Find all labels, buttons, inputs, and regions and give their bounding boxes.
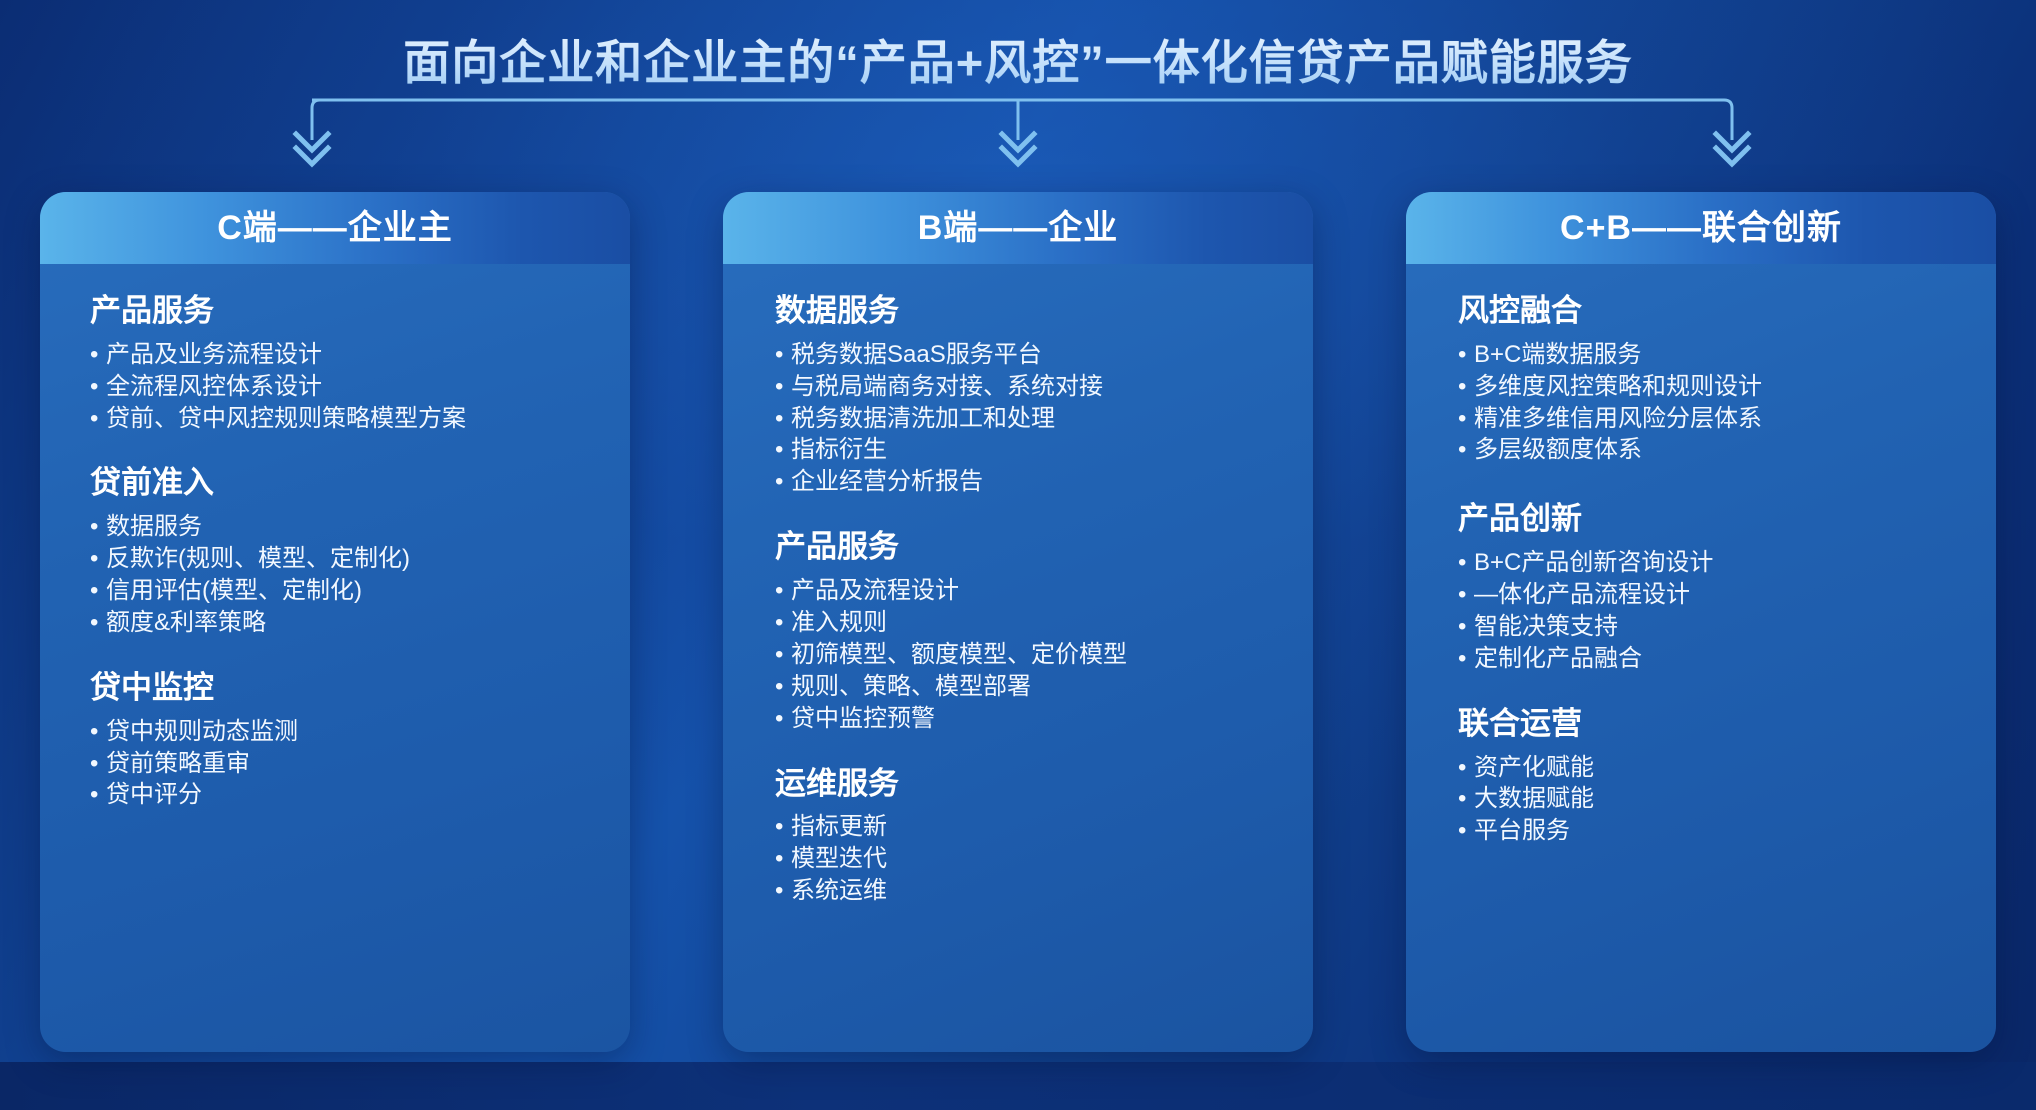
section-product-service: 产品服务 产品及业务流程设计 全流程风控体系设计 贷前、贷中风控规则策略模型方案	[90, 292, 596, 434]
list-item: 系统运维	[775, 875, 1279, 907]
list-item: 准入规则	[775, 607, 1279, 639]
list-item: 贷中评分	[90, 779, 596, 811]
list-item: 多层级额度体系	[1458, 434, 1962, 466]
list-item: 与税局端商务对接、系统对接	[775, 371, 1279, 403]
list-item: 全流程风控体系设计	[90, 371, 596, 403]
section-bullet-list: 贷中规则动态监测 贷前策略重审 贷中评分	[90, 716, 596, 812]
section-ops-service: 运维服务 指标更新 模型迭代 系统运维	[775, 765, 1279, 907]
slide-canvas: 面向企业和企业主的“产品+风控”一体化信贷产品赋能服务 C端——企业主 产品服务	[0, 0, 2036, 1110]
section-title: 产品创新	[1458, 500, 1962, 539]
column-header-c-plus-b: C+B——联合创新	[1406, 192, 1996, 264]
section-bullet-list: 产品及业务流程设计 全流程风控体系设计 贷前、贷中风控规则策略模型方案	[90, 339, 596, 435]
section-joint-operation: 联合运营 资产化赋能 大数据赋能 平台服务	[1458, 705, 1962, 847]
list-item: 贷中监控预警	[775, 703, 1279, 735]
chevron-down-icon-3	[1716, 134, 1748, 164]
section-title: 风控融合	[1458, 292, 1962, 331]
column-header-b-end: B端——企业	[723, 192, 1313, 264]
column-body-b-end: 数据服务 税务数据SaaS服务平台 与税局端商务对接、系统对接 税务数据清洗加工…	[723, 264, 1313, 907]
column-card-c-end[interactable]: C端——企业主 产品服务 产品及业务流程设计 全流程风控体系设计 贷前、贷中风控…	[40, 192, 630, 1052]
section-bullet-list: B+C端数据服务 多维度风控策略和规则设计 精准多维信用风险分层体系 多层级额度…	[1458, 339, 1962, 467]
section-product-innovation: 产品创新 B+C产品创新咨询设计 —体化产品流程设计 智能决策支持 定制化产品融…	[1458, 500, 1962, 674]
list-item: —体化产品流程设计	[1458, 579, 1962, 611]
bottom-strip	[0, 1062, 2036, 1110]
chevron-down-icon-2	[1002, 134, 1034, 164]
list-item: 精准多维信用风险分层体系	[1458, 403, 1962, 435]
list-item: 税务数据清洗加工和处理	[775, 403, 1279, 435]
column-header-c-end: C端——企业主	[40, 192, 630, 264]
section-title: 贷中监控	[90, 669, 596, 708]
list-item: 税务数据SaaS服务平台	[775, 339, 1279, 371]
list-item: 反欺诈(规则、模型、定制化)	[90, 543, 596, 575]
section-pre-loan-admission: 贷前准入 数据服务 反欺诈(规则、模型、定制化) 信用评估(模型、定制化) 额度…	[90, 464, 596, 638]
section-bullet-list: 产品及流程设计 准入规则 初筛模型、额度模型、定价模型 规则、策略、模型部署 贷…	[775, 575, 1279, 735]
list-item: 信用评估(模型、定制化)	[90, 575, 596, 607]
list-item: 贷中规则动态监测	[90, 716, 596, 748]
list-item: 定制化产品融合	[1458, 643, 1962, 675]
list-item: 初筛模型、额度模型、定价模型	[775, 639, 1279, 671]
list-item: 额度&利率策略	[90, 607, 596, 639]
section-product-service: 产品服务 产品及流程设计 准入规则 初筛模型、额度模型、定价模型 规则、策略、模…	[775, 528, 1279, 734]
section-data-service: 数据服务 税务数据SaaS服务平台 与税局端商务对接、系统对接 税务数据清洗加工…	[775, 292, 1279, 498]
list-item: 平台服务	[1458, 815, 1962, 847]
section-title: 运维服务	[775, 765, 1279, 804]
list-item: 智能决策支持	[1458, 611, 1962, 643]
section-title: 数据服务	[775, 292, 1279, 331]
section-bullet-list: 指标更新 模型迭代 系统运维	[775, 811, 1279, 907]
list-item: 规则、策略、模型部署	[775, 671, 1279, 703]
list-item: 指标衍生	[775, 434, 1279, 466]
list-item: B+C端数据服务	[1458, 339, 1962, 371]
list-item: 贷前策略重审	[90, 748, 596, 780]
section-title: 产品服务	[90, 292, 596, 331]
list-item: 产品及流程设计	[775, 575, 1279, 607]
section-title: 贷前准入	[90, 464, 596, 503]
column-card-b-end[interactable]: B端——企业 数据服务 税务数据SaaS服务平台 与税局端商务对接、系统对接 税…	[723, 192, 1313, 1052]
page-title: 面向企业和企业主的“产品+风控”一体化信贷产品赋能服务	[0, 24, 2036, 93]
section-bullet-list: 税务数据SaaS服务平台 与税局端商务对接、系统对接 税务数据清洗加工和处理 指…	[775, 339, 1279, 499]
list-item: 资产化赋能	[1458, 752, 1962, 784]
column-body-c-plus-b: 风控融合 B+C端数据服务 多维度风控策略和规则设计 精准多维信用风险分层体系 …	[1406, 264, 1996, 847]
list-item: 企业经营分析报告	[775, 466, 1279, 498]
section-bullet-list: 资产化赋能 大数据赋能 平台服务	[1458, 752, 1962, 848]
bracket-connector	[0, 88, 2036, 168]
column-body-c-end: 产品服务 产品及业务流程设计 全流程风控体系设计 贷前、贷中风控规则策略模型方案…	[40, 264, 630, 811]
list-item: 模型迭代	[775, 843, 1279, 875]
list-item: 贷前、贷中风控规则策略模型方案	[90, 403, 596, 435]
list-item: 数据服务	[90, 511, 596, 543]
column-card-c-plus-b[interactable]: C+B——联合创新 风控融合 B+C端数据服务 多维度风控策略和规则设计 精准多…	[1406, 192, 1996, 1052]
section-bullet-list: B+C产品创新咨询设计 —体化产品流程设计 智能决策支持 定制化产品融合	[1458, 547, 1962, 675]
section-in-loan-monitoring: 贷中监控 贷中规则动态监测 贷前策略重审 贷中评分	[90, 669, 596, 811]
section-title: 联合运营	[1458, 705, 1962, 744]
section-title: 产品服务	[775, 528, 1279, 567]
list-item: 指标更新	[775, 811, 1279, 843]
list-item: B+C产品创新咨询设计	[1458, 547, 1962, 579]
list-item: 多维度风控策略和规则设计	[1458, 371, 1962, 403]
section-bullet-list: 数据服务 反欺诈(规则、模型、定制化) 信用评估(模型、定制化) 额度&利率策略	[90, 511, 596, 639]
section-risk-fusion: 风控融合 B+C端数据服务 多维度风控策略和规则设计 精准多维信用风险分层体系 …	[1458, 292, 1962, 466]
list-item: 产品及业务流程设计	[90, 339, 596, 371]
list-item: 大数据赋能	[1458, 783, 1962, 815]
chevron-down-icon-1	[296, 134, 328, 164]
